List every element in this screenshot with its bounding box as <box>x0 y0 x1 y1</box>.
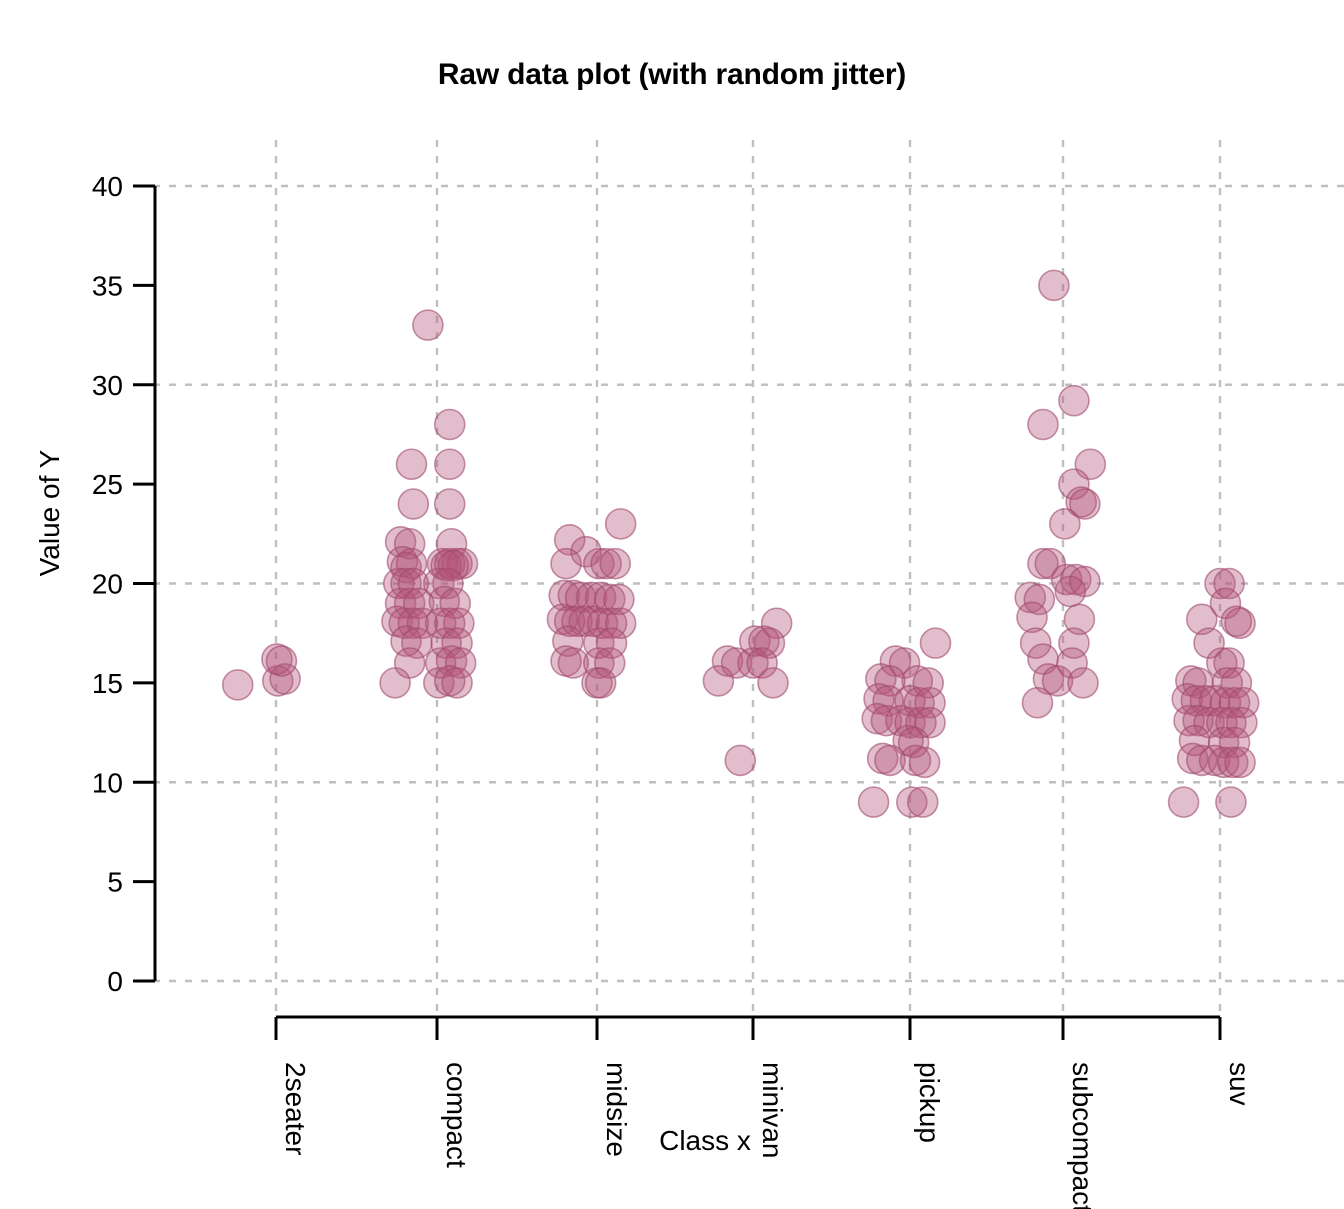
data-point <box>1059 386 1089 416</box>
x-tick-label: pickup <box>914 1062 945 1143</box>
data-point <box>266 646 296 676</box>
data-point <box>758 668 788 698</box>
data-point <box>1225 747 1255 777</box>
y-tick-label: 5 <box>107 867 123 898</box>
y-tick-label: 30 <box>92 370 123 401</box>
data-point <box>435 489 465 519</box>
data-point <box>1216 787 1246 817</box>
data-point <box>859 787 889 817</box>
data-point <box>398 489 428 519</box>
data-point <box>1225 608 1255 638</box>
data-point <box>1028 410 1058 440</box>
data-point <box>442 668 472 698</box>
data-point <box>1169 787 1199 817</box>
x-tick-label: compact <box>441 1062 472 1168</box>
data-point <box>435 449 465 479</box>
data-point <box>703 666 733 696</box>
x-tick-label: midsize <box>601 1062 632 1157</box>
axes <box>133 186 1220 1040</box>
data-point <box>606 509 636 539</box>
data-point <box>725 745 755 775</box>
data-point <box>397 449 427 479</box>
data-point <box>600 549 630 579</box>
y-tick-label: 20 <box>92 569 123 600</box>
data-points-layer <box>223 270 1259 817</box>
gridlines <box>153 140 1344 1040</box>
data-point <box>586 668 616 698</box>
data-point <box>1050 509 1080 539</box>
x-tick-label: suv <box>1224 1062 1255 1106</box>
y-tick-labels: 0510152025303540 <box>92 171 123 997</box>
data-point <box>551 549 581 579</box>
x-tick-label: minivan <box>757 1062 788 1158</box>
data-point <box>380 668 410 698</box>
y-tick-label: 35 <box>92 270 123 301</box>
x-tick-labels: 2seatercompactmidsizeminivanpickupsubcom… <box>280 1062 1255 1209</box>
data-point <box>920 628 950 658</box>
y-tick-label: 25 <box>92 469 123 500</box>
y-tick-label: 10 <box>92 767 123 798</box>
data-point <box>1039 270 1069 300</box>
data-point <box>1068 668 1098 698</box>
plot-canvas: 0510152025303540 2seatercompactmidsizemi… <box>0 0 1344 1209</box>
y-tick-label: 40 <box>92 171 123 202</box>
data-point <box>1055 576 1085 606</box>
x-tick-label: subcompact <box>1067 1062 1098 1209</box>
y-tick-label: 15 <box>92 668 123 699</box>
x-tick-label: 2seater <box>280 1062 311 1155</box>
data-point <box>223 670 253 700</box>
chart-figure: Raw data plot (with random jitter) Value… <box>0 0 1344 1209</box>
data-point <box>435 410 465 440</box>
data-point <box>1023 688 1053 718</box>
data-point <box>908 787 938 817</box>
data-point <box>910 747 940 777</box>
data-point <box>413 310 443 340</box>
y-tick-label: 0 <box>107 966 123 997</box>
